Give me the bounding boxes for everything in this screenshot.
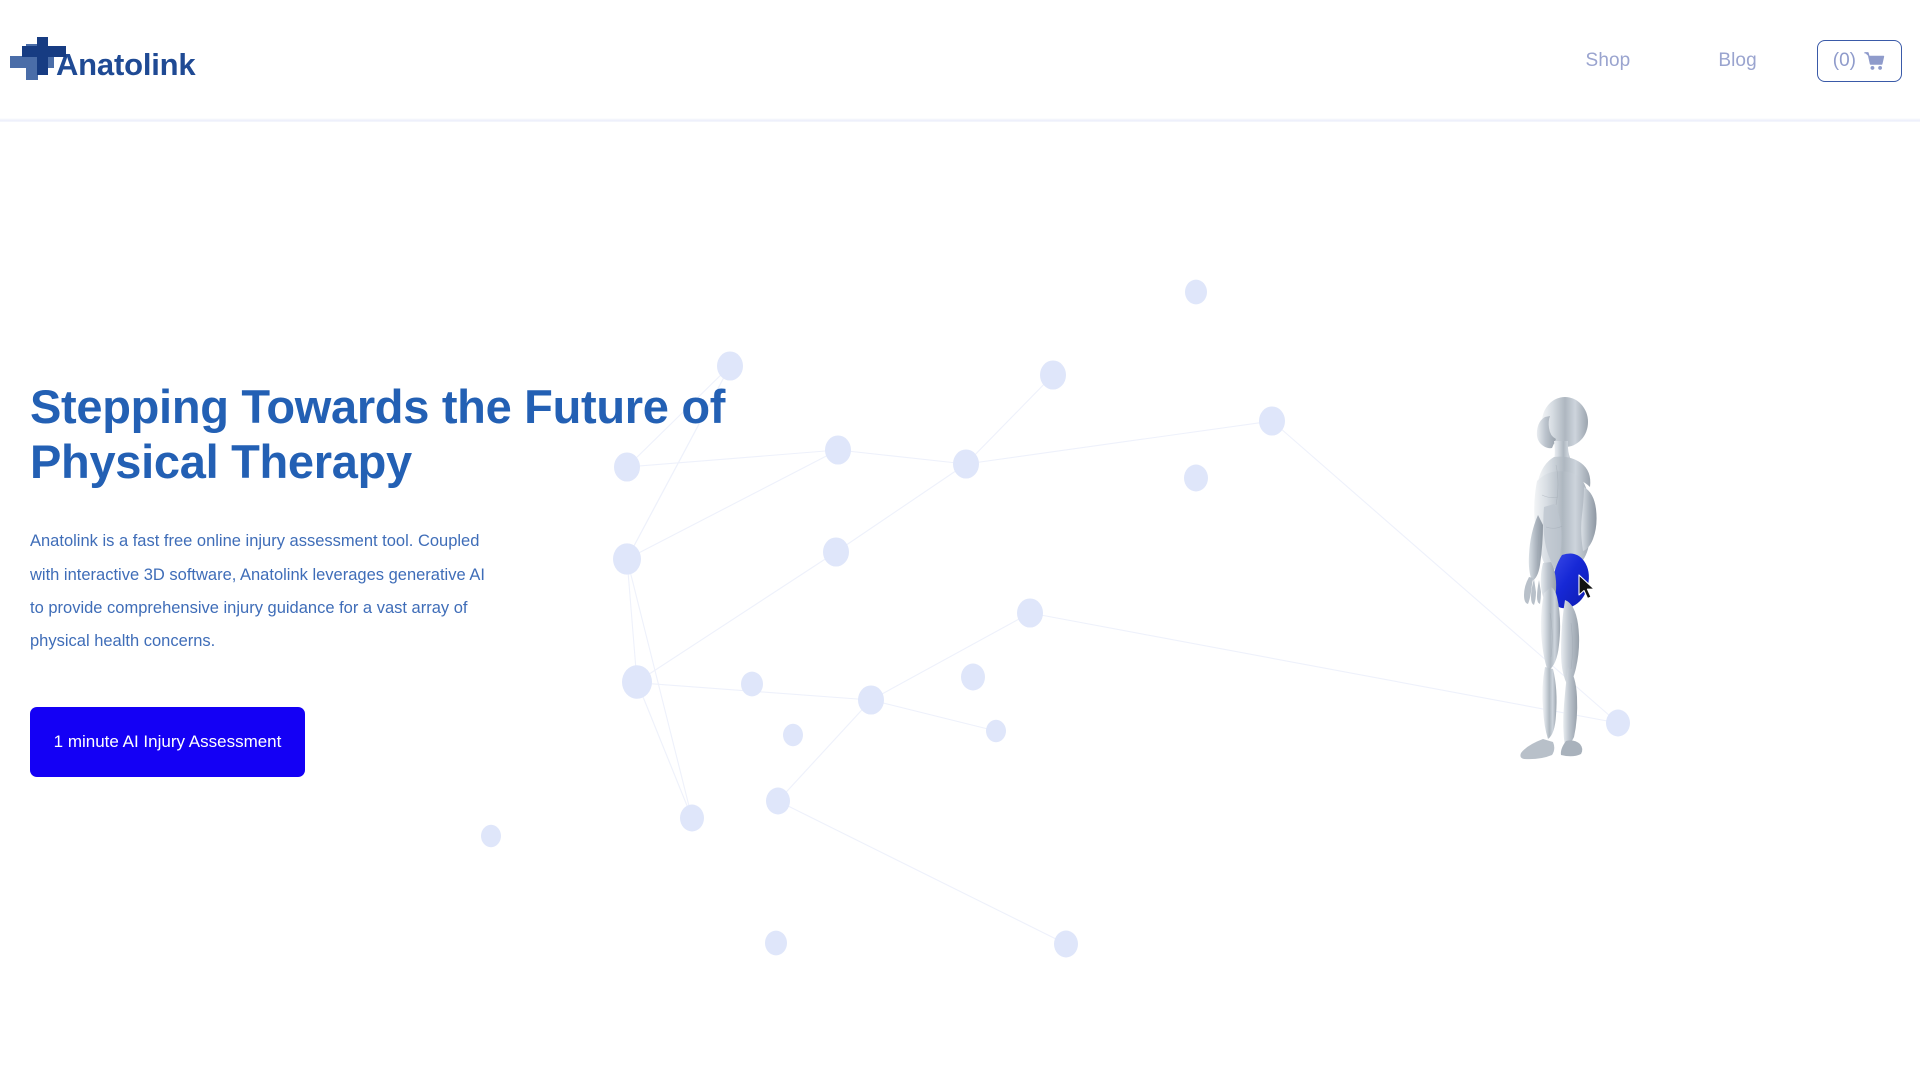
brand-logo[interactable]: Anatolink [10, 34, 195, 84]
cart-button[interactable]: (0) [1817, 40, 1902, 82]
hero-section: Stepping Towards the Future of Physical … [30, 380, 790, 777]
cart-count-label: (0) [1833, 50, 1856, 72]
mouse-pointer-arrow [1578, 574, 1598, 602]
nav-link-shop[interactable]: Shop [1542, 50, 1675, 72]
page-title: Stepping Towards the Future of Physical … [30, 380, 760, 489]
landing-page: Anatolink Shop Blog (0) Stepping Tow [0, 0, 1920, 1080]
double-cross-icon [10, 37, 62, 81]
3d-anatomy-viewer[interactable] [1510, 395, 1650, 780]
shopping-cart-icon [1864, 51, 1886, 71]
hero-description: Anatolink is a fast free online injury a… [30, 525, 485, 659]
nav-link-blog[interactable]: Blog [1674, 50, 1800, 72]
site-header: Anatolink Shop Blog (0) [0, 0, 1920, 122]
brand-name: Anatolink [56, 39, 195, 80]
main-navigation: Shop Blog (0) [1542, 0, 1902, 122]
ai-injury-assessment-button[interactable]: 1 minute AI Injury Assessment [30, 707, 305, 777]
